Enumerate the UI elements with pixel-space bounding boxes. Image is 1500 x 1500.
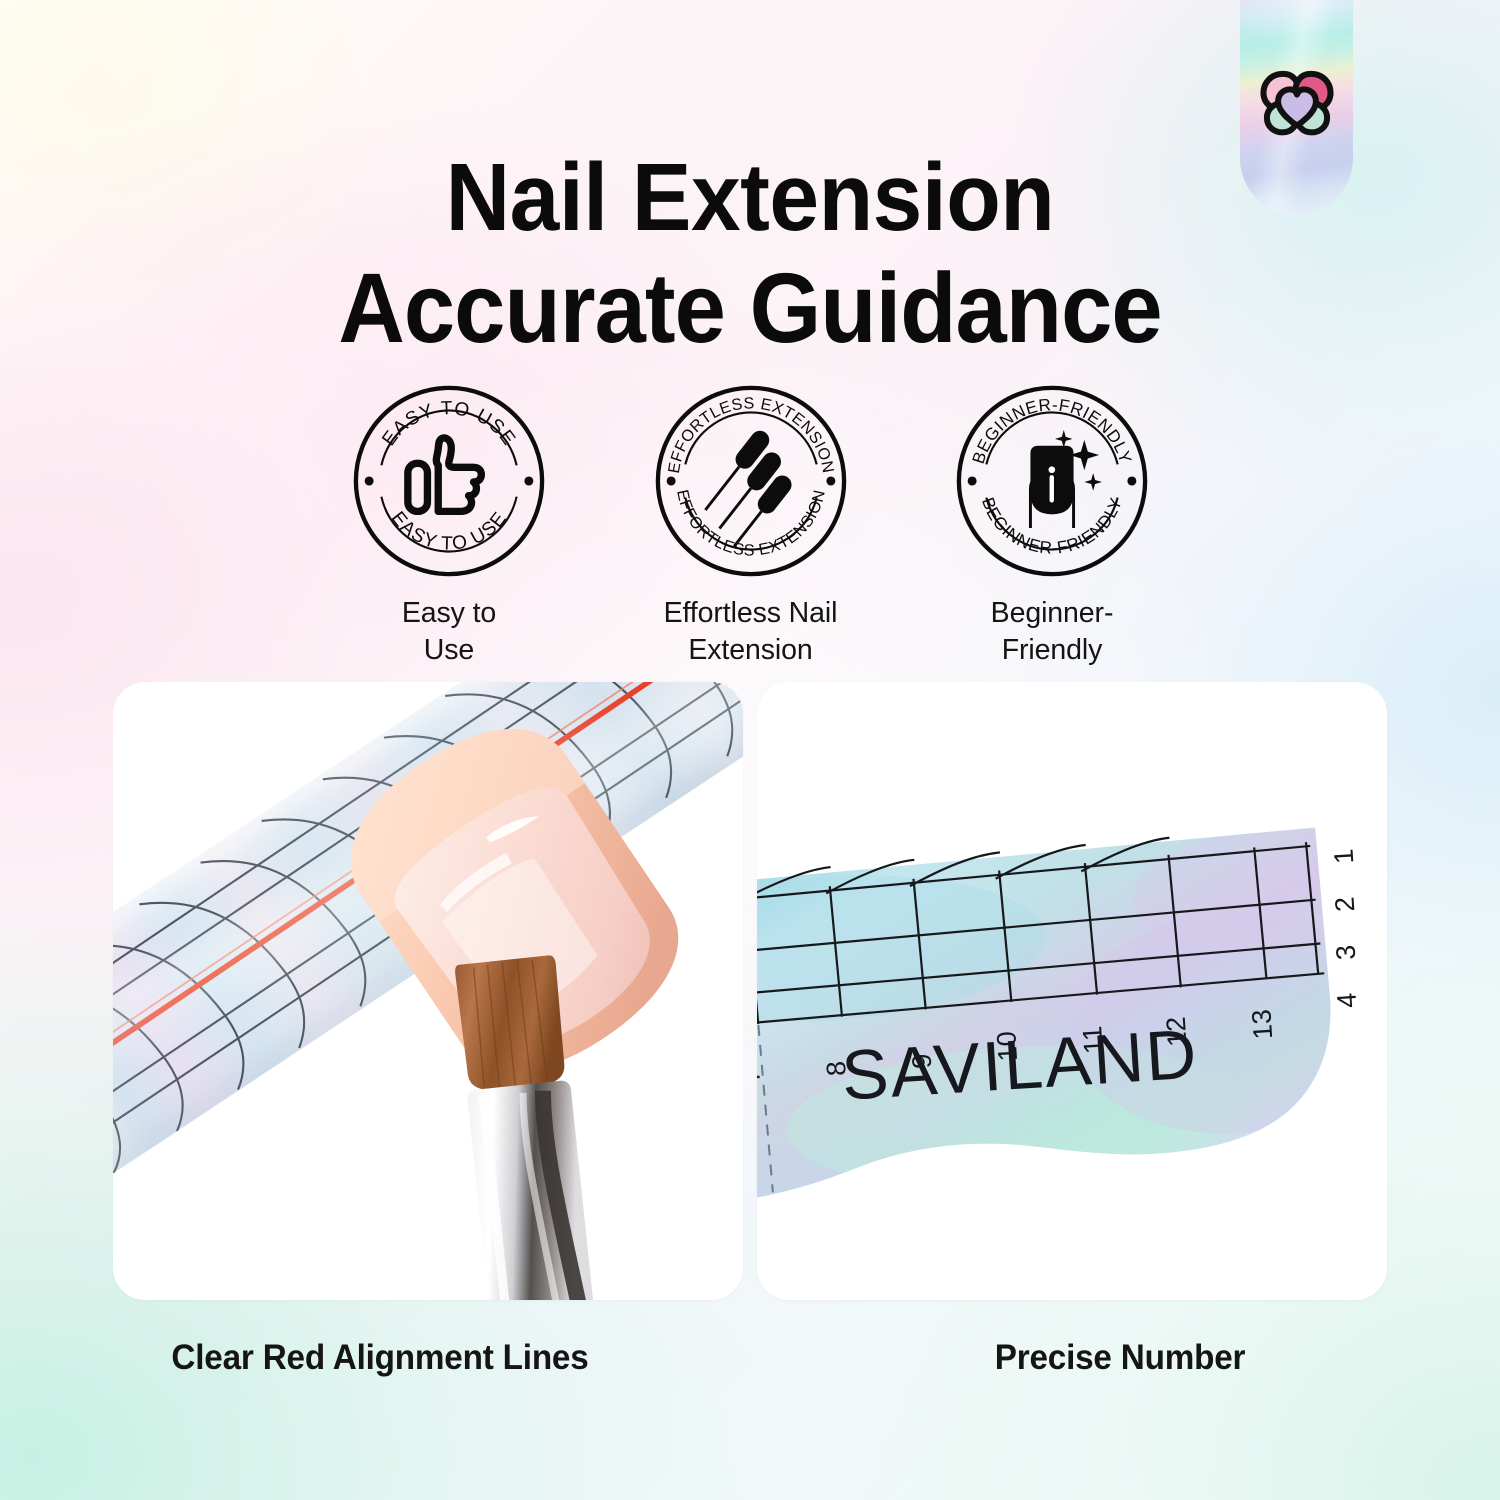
easy-to-use-stamp: EASY TO USE EASY TO USE	[351, 383, 547, 579]
holographic-nail-form-with-ruler: 7 8 9 10 11 12 13 1 2 3 4	[757, 713, 1387, 1276]
feature-badge-caption-beginner-friendly: Beginner- Friendly	[947, 595, 1157, 669]
page-title: Nail Extension Accurate Guidance	[53, 143, 1448, 365]
photo-clear-red-alignment-lines	[113, 682, 743, 1300]
photo-card-precise-number: 7 8 9 10 11 12 13 1 2 3 4	[757, 682, 1387, 1300]
feature-badge-effortless-extension: EFFORTLESS EXTENSION EFFORTLESS EXTENSIO…	[620, 383, 882, 669]
feature-badge-beginner-friendly: BEGINNER-FRIENDLY BEGINNER-FRIENDLY	[921, 383, 1183, 669]
sparkling-nail-finger-icon	[1030, 430, 1102, 528]
nail-form-vertical-numbers: 1 2 3 4	[1322, 848, 1368, 1009]
ruler-number: 13	[1246, 1008, 1278, 1040]
page-title-line-2: Accurate Guidance	[53, 252, 1448, 365]
finger-with-nail	[113, 682, 743, 1300]
ruler-number: 3	[1331, 944, 1362, 961]
feature-badge-easy-to-use: EASY TO USE EASY TO USE Easy to Use	[318, 383, 580, 669]
ruler-number: 7	[757, 1068, 766, 1085]
effortless-extension-stamp-icon: EFFORTLESS EXTENSION EFFORTLESS EXTENSIO…	[653, 383, 849, 579]
ruler-number: 1	[1328, 848, 1359, 865]
photo-precise-number: 7 8 9 10 11 12 13 1 2 3 4	[757, 682, 1387, 1300]
photo-caption-precise-number: Precise Number	[759, 1338, 1481, 1378]
ruler-number: 2	[1329, 896, 1360, 913]
thumbs-up-icon	[408, 438, 482, 511]
photo-caption-clear-red-alignment-lines: Clear Red Alignment Lines	[19, 1338, 741, 1378]
easy-to-use-stamp-icon: EASY TO USE EASY TO USE	[351, 383, 547, 579]
badge-caption-line-2: Extension	[688, 634, 812, 666]
photo-card-clear-red-alignment-lines	[113, 682, 743, 1300]
product-infographic-page: Nail Extension Accurate Guidance	[0, 0, 1500, 1500]
feature-badge-caption-easy-to-use: Easy to Use	[344, 595, 554, 669]
feature-badge-row: EASY TO USE EASY TO USE Easy to Use	[318, 383, 1183, 669]
badge-caption-line-1: Beginner-	[991, 597, 1114, 629]
saviland-flower-logo-icon	[1254, 55, 1340, 141]
feature-badge-caption-effortless-extension: Effortless Nail Extension	[646, 595, 856, 669]
effortless-extension-stamp: EFFORTLESS EXTENSION EFFORTLESS EXTENSIO…	[653, 383, 849, 579]
product-photo-row: 7 8 9 10 11 12 13 1 2 3 4	[113, 682, 1387, 1300]
ruler-number: 4	[1332, 992, 1363, 1009]
badge-caption-line-2: Friendly	[1002, 634, 1103, 666]
badge-caption-line-1: Effortless Nail	[664, 597, 838, 629]
badge-caption-line-1: Easy to	[402, 597, 496, 629]
page-title-line-1: Nail Extension	[53, 143, 1448, 252]
beginner-friendly-stamp: BEGINNER-FRIENDLY BEGINNER-FRIENDLY	[954, 383, 1150, 579]
beginner-friendly-stamp-icon: BEGINNER-FRIENDLY BEGINNER-FRIENDLY	[954, 383, 1150, 579]
badge-caption-line-2: Use	[424, 634, 474, 666]
